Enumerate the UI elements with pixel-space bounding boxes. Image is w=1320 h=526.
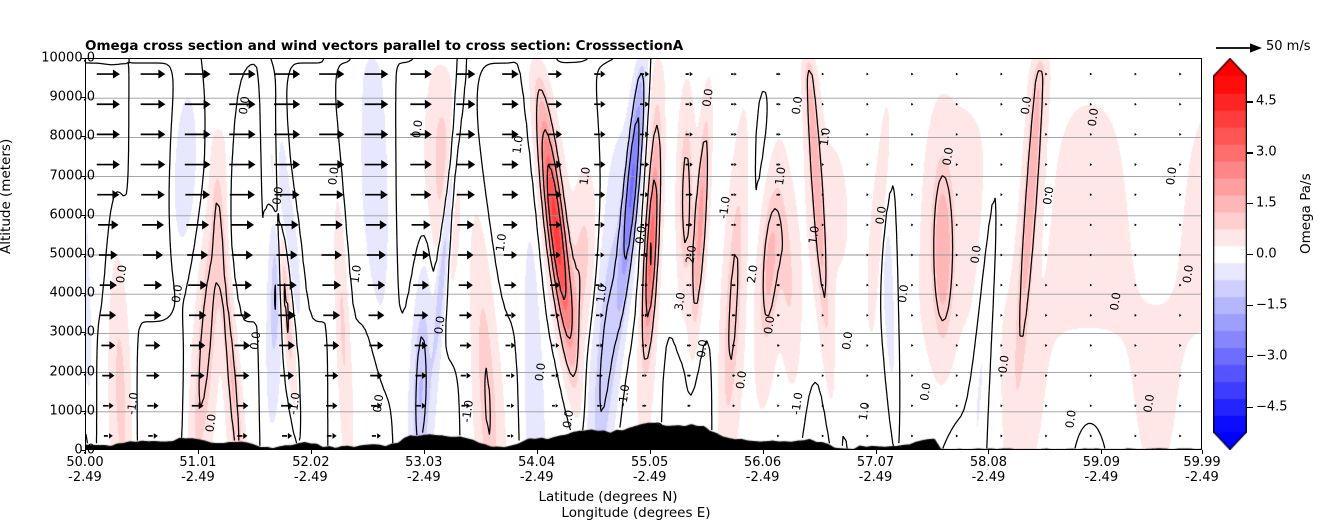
x-tick-longitude: -2.49 bbox=[970, 470, 1007, 485]
contour-label: 0.0 bbox=[733, 370, 749, 390]
contour-label: 2.0 bbox=[744, 264, 760, 284]
svg-text:0.0: 0.0 bbox=[733, 370, 749, 390]
contour-label: 1.0 bbox=[805, 225, 821, 245]
wind-vector bbox=[641, 283, 648, 287]
colorbar-tick-mark bbox=[1247, 407, 1253, 408]
colorbar-tick-mark bbox=[1247, 203, 1253, 204]
wind-vector bbox=[911, 404, 913, 407]
wind-vector bbox=[911, 254, 913, 257]
wind-vector bbox=[459, 311, 472, 319]
wind-vector bbox=[1001, 344, 1003, 347]
svg-text:0.0: 0.0 bbox=[1163, 166, 1179, 186]
wind-vector bbox=[956, 103, 958, 106]
x-tick-longitude: -2.49 bbox=[179, 470, 216, 485]
wind-vector bbox=[1001, 435, 1003, 438]
wind-vector bbox=[731, 72, 737, 75]
wind-vector bbox=[415, 342, 428, 350]
wind-vector bbox=[1179, 314, 1181, 317]
x-tick-longitude: -2.49 bbox=[292, 470, 329, 485]
wind-vector bbox=[1090, 133, 1092, 136]
wind-vector bbox=[230, 190, 255, 199]
wind-vector bbox=[911, 133, 913, 136]
wind-vector bbox=[956, 374, 958, 377]
y-tick-label: 6000.0 bbox=[50, 207, 96, 222]
svg-text:0.0: 0.0 bbox=[247, 331, 263, 351]
colorbar-tick-mark bbox=[1247, 152, 1253, 153]
svg-text:0.0: 0.0 bbox=[873, 205, 889, 225]
svg-text:0.0: 0.0 bbox=[1062, 409, 1078, 429]
wind-vector bbox=[1090, 404, 1092, 407]
wind-vector bbox=[1001, 133, 1003, 136]
contour-label: 0.0 bbox=[917, 382, 933, 402]
wind-vector bbox=[506, 373, 515, 378]
svg-text:0.0: 0.0 bbox=[967, 244, 983, 264]
plot-clip: 0.0-1.00.00.00.00.0-1.00.01.00.00.00.0-1… bbox=[86, 59, 1201, 449]
wind-vector bbox=[777, 223, 781, 226]
x-tick-latitude: 54.04 bbox=[518, 455, 555, 470]
wind-vector bbox=[274, 160, 300, 169]
wind-vector bbox=[1179, 374, 1181, 377]
wind-vector bbox=[1001, 374, 1003, 377]
wind-vector bbox=[457, 190, 475, 199]
wind-vector bbox=[687, 314, 692, 317]
x-tick-mark bbox=[85, 450, 86, 454]
wind-vector bbox=[231, 220, 254, 229]
contour-label: 1.0 bbox=[856, 401, 872, 421]
wind-vector bbox=[1001, 404, 1003, 407]
y-tick-label: 2000.0 bbox=[50, 364, 96, 379]
svg-text:0.0: 0.0 bbox=[699, 88, 715, 108]
svg-text:0.0: 0.0 bbox=[789, 95, 805, 115]
svg-text:0.0: 0.0 bbox=[202, 413, 218, 433]
wind-vector bbox=[1135, 435, 1137, 438]
wind-vector bbox=[1001, 284, 1003, 287]
svg-text:3.0: 3.0 bbox=[671, 291, 687, 311]
wind-vector bbox=[822, 254, 824, 257]
wind-vector bbox=[1090, 254, 1092, 257]
wind-vector bbox=[1045, 133, 1047, 136]
wind-vector bbox=[956, 133, 958, 136]
wind-vector bbox=[1179, 284, 1181, 287]
wind-vector bbox=[504, 281, 516, 288]
svg-text:0.0: 0.0 bbox=[761, 315, 777, 335]
wind-vector bbox=[777, 254, 781, 257]
wind-vector bbox=[279, 341, 295, 350]
wind-vector bbox=[372, 433, 381, 438]
wind-vector bbox=[1090, 435, 1092, 438]
wind-vector bbox=[144, 281, 162, 290]
contour-label: 0.0 bbox=[269, 186, 285, 206]
wind-vector bbox=[640, 71, 649, 76]
svg-text:0.0: 0.0 bbox=[1085, 107, 1101, 127]
contour-label: 0.0 bbox=[1085, 107, 1101, 127]
x-tick-label: 57.07-2.49 bbox=[857, 455, 894, 485]
wind-vector bbox=[822, 374, 824, 377]
x-tick-longitude: -2.49 bbox=[631, 470, 668, 485]
wind-vector bbox=[594, 71, 605, 78]
wind-vector bbox=[414, 311, 428, 320]
y-tick-mark bbox=[81, 254, 85, 255]
title-line-1: Omega cross section and wind vectors par… bbox=[85, 38, 1085, 54]
svg-text:0.0: 0.0 bbox=[1107, 291, 1123, 311]
svg-text:1.0: 1.0 bbox=[817, 127, 833, 147]
wind-vector bbox=[777, 284, 780, 287]
wind-vector bbox=[1135, 223, 1137, 226]
wind-vector bbox=[776, 163, 780, 166]
wind-vector bbox=[323, 311, 340, 320]
wind-vector bbox=[1135, 133, 1137, 136]
wind-vector bbox=[321, 250, 342, 259]
svg-text:0.0: 0.0 bbox=[649, 421, 665, 441]
svg-text:1.0: 1.0 bbox=[348, 264, 364, 284]
wind-vector bbox=[1179, 73, 1181, 76]
wind-vector bbox=[458, 250, 474, 259]
wind-vector bbox=[686, 72, 693, 76]
wind-vector bbox=[640, 102, 649, 107]
wind-vector bbox=[642, 374, 647, 377]
wind-vector bbox=[867, 163, 869, 166]
wind-vector bbox=[1090, 314, 1092, 317]
wind-vector bbox=[731, 193, 736, 196]
wind-vector bbox=[687, 374, 691, 377]
wind-vector bbox=[911, 284, 913, 287]
wind-vector bbox=[822, 314, 824, 317]
wind-vector bbox=[1001, 73, 1003, 76]
wind-vector bbox=[595, 222, 605, 228]
contour-label: 0.0 bbox=[895, 284, 911, 304]
wind-vector bbox=[911, 73, 913, 76]
contour-label: 0.0 bbox=[694, 339, 710, 359]
colorbar-tick-label: 4.5 bbox=[1256, 94, 1277, 109]
wind-vector bbox=[416, 403, 426, 409]
wind-vector bbox=[686, 132, 693, 136]
svg-text:0.0: 0.0 bbox=[169, 284, 185, 304]
wind-vector bbox=[101, 341, 115, 349]
y-tick-mark bbox=[81, 97, 85, 98]
wind-vector bbox=[103, 403, 114, 409]
wind-vector bbox=[1135, 284, 1137, 287]
contour-label: 0.0 bbox=[1141, 393, 1157, 413]
wind-vector bbox=[502, 100, 518, 109]
wind-vector bbox=[911, 103, 913, 106]
wind-vector bbox=[1090, 223, 1092, 226]
wind-vector bbox=[1090, 284, 1092, 287]
x-tick-label: 50.00-2.49 bbox=[66, 455, 103, 485]
wind-vector bbox=[867, 374, 869, 377]
wind-vector bbox=[185, 100, 211, 109]
x-tick-latitude: 59.09 bbox=[1083, 455, 1120, 470]
wind-vector bbox=[867, 254, 869, 257]
wind-vector bbox=[457, 220, 474, 229]
x-tick-mark bbox=[1101, 450, 1102, 454]
x-tick-longitude: -2.49 bbox=[744, 470, 781, 485]
wind-vector bbox=[956, 435, 958, 438]
colorbar-tick-mark bbox=[1247, 305, 1253, 306]
x-tick-mark bbox=[876, 450, 877, 454]
wind-vector bbox=[367, 250, 386, 259]
wind-vector bbox=[1045, 314, 1047, 317]
wind-vector bbox=[460, 342, 471, 349]
wind-vector bbox=[229, 160, 255, 169]
wind-vector bbox=[282, 433, 292, 439]
wind-vector bbox=[956, 254, 958, 257]
wind-vector bbox=[1045, 254, 1047, 257]
svg-text:0.0: 0.0 bbox=[1180, 264, 1196, 284]
wind-vector bbox=[365, 100, 389, 109]
y-tick-label: 5000.0 bbox=[50, 247, 96, 262]
x-tick-label: 59.99-2.49 bbox=[1183, 455, 1220, 485]
svg-text:1.0: 1.0 bbox=[805, 225, 821, 245]
wind-vector bbox=[1045, 344, 1047, 347]
x-tick-latitude: 55.05 bbox=[631, 455, 668, 470]
wind-vector bbox=[1045, 223, 1047, 226]
contour-label: 1.0 bbox=[493, 233, 509, 253]
wind-vector bbox=[733, 404, 736, 407]
wind-vector bbox=[461, 373, 471, 379]
contour-label: 0.0 bbox=[532, 362, 548, 382]
contour-label: 0.0 bbox=[839, 331, 855, 351]
wind-vector bbox=[1090, 344, 1092, 347]
wind-vector bbox=[732, 314, 736, 317]
wind-vector bbox=[822, 163, 824, 166]
x-axis-label-longitude: Longitude (degrees E) bbox=[561, 505, 710, 521]
colorbar-tick-label: 3.0 bbox=[1256, 145, 1277, 160]
x-tick-latitude: 50.00 bbox=[66, 455, 103, 470]
wind-vector bbox=[552, 404, 558, 408]
wind-vector bbox=[1179, 254, 1181, 257]
wind-vector bbox=[777, 374, 779, 377]
wind-vector bbox=[1179, 193, 1181, 196]
wind-vector bbox=[686, 102, 693, 106]
x-tick-label: 58.08-2.49 bbox=[970, 455, 1007, 485]
wind-vector bbox=[822, 435, 824, 438]
contour-label: 0.0 bbox=[409, 119, 425, 139]
quiver-key-label: 50 m/s bbox=[1266, 39, 1311, 54]
svg-text:-1.0: -1.0 bbox=[459, 399, 476, 423]
wind-vector bbox=[911, 374, 913, 377]
wind-vector bbox=[410, 100, 432, 109]
svg-text:0.0: 0.0 bbox=[113, 264, 129, 284]
wind-vector bbox=[911, 223, 913, 226]
colorbar-tick-mark bbox=[1247, 356, 1253, 357]
y-tick-mark bbox=[81, 58, 85, 59]
wind-vector bbox=[731, 223, 736, 226]
svg-text:1.0: 1.0 bbox=[493, 233, 509, 253]
wind-vector bbox=[551, 313, 560, 319]
wind-vector bbox=[731, 133, 737, 136]
wind-vector bbox=[956, 344, 958, 347]
y-tick-label: 1000.0 bbox=[50, 403, 96, 418]
wind-vector bbox=[104, 433, 113, 438]
wind-vector bbox=[502, 160, 518, 169]
wind-vector bbox=[911, 435, 913, 438]
wind-vector bbox=[366, 220, 387, 229]
y-tick-mark bbox=[81, 372, 85, 373]
contour-label: 0.0 bbox=[1163, 166, 1179, 186]
y-tick-mark bbox=[81, 215, 85, 216]
wind-vector bbox=[777, 344, 780, 347]
wind-vector bbox=[867, 344, 869, 347]
wind-vector bbox=[688, 404, 691, 407]
contour-label: 1.0 bbox=[817, 127, 833, 147]
svg-text:0.0: 0.0 bbox=[1141, 393, 1157, 413]
wind-vector bbox=[97, 190, 119, 199]
wind-vector bbox=[1179, 163, 1181, 166]
x-tick-mark bbox=[650, 450, 651, 454]
y-tick-mark bbox=[81, 411, 85, 412]
wind-vector bbox=[1090, 374, 1092, 377]
wind-vector bbox=[776, 133, 780, 136]
wind-vector bbox=[867, 435, 869, 438]
contour-label: 0.0 bbox=[967, 244, 983, 264]
wind-vector bbox=[822, 73, 824, 76]
y-tick-label: 10000.0 bbox=[41, 51, 95, 66]
x-tick-mark bbox=[537, 450, 538, 454]
wind-vector bbox=[1179, 344, 1181, 347]
wind-vector bbox=[142, 220, 164, 229]
x-tick-latitude: 52.02 bbox=[292, 455, 329, 470]
x-tick-mark bbox=[311, 450, 312, 454]
x-tick-label: 56.06-2.49 bbox=[744, 455, 781, 485]
wind-vector bbox=[822, 223, 824, 226]
wind-vector bbox=[956, 404, 958, 407]
colorbar-tick-label: 1.5 bbox=[1256, 196, 1277, 211]
contour-label: 0.0 bbox=[699, 88, 715, 108]
x-tick-label: 59.09-2.49 bbox=[1083, 455, 1120, 485]
wind-vector bbox=[911, 163, 913, 166]
x-tick-label: 52.02-2.49 bbox=[292, 455, 329, 485]
contour-label: -1.0 bbox=[459, 399, 476, 423]
wind-vector bbox=[867, 284, 869, 287]
wind-vector bbox=[365, 69, 389, 78]
x-tick-label: 53.03-2.49 bbox=[405, 455, 442, 485]
wind-vector bbox=[1090, 163, 1092, 166]
wind-vector bbox=[867, 133, 869, 136]
svg-text:0.0: 0.0 bbox=[431, 315, 447, 335]
wind-vector bbox=[1001, 103, 1003, 106]
wind-vector bbox=[147, 402, 158, 409]
svg-text:0.0: 0.0 bbox=[917, 382, 933, 402]
wind-vector bbox=[777, 435, 779, 438]
wind-vector bbox=[731, 163, 737, 166]
svg-text:0.0: 0.0 bbox=[1018, 95, 1034, 115]
wind-vector bbox=[1135, 254, 1137, 257]
wind-vector bbox=[956, 73, 958, 76]
wind-vector bbox=[97, 160, 120, 169]
svg-text:0.0: 0.0 bbox=[1040, 186, 1056, 206]
wind-vector bbox=[368, 311, 384, 320]
x-tick-longitude: -2.49 bbox=[66, 470, 103, 485]
wind-vector bbox=[506, 343, 516, 349]
wind-vector bbox=[642, 404, 646, 407]
wind-vector bbox=[731, 103, 737, 106]
colorbar-tick-label: −3.0 bbox=[1256, 348, 1288, 363]
contour-label: 0.0 bbox=[202, 413, 218, 433]
y-tick-label: 9000.0 bbox=[50, 90, 96, 105]
wind-vector bbox=[274, 69, 300, 78]
x-tick-mark bbox=[763, 450, 764, 454]
contour-label: 0.0 bbox=[247, 331, 263, 351]
wind-vector bbox=[1045, 103, 1047, 106]
svg-text:0.0: 0.0 bbox=[694, 339, 710, 359]
wind-vector bbox=[502, 69, 518, 78]
colorbar-tick-label: −1.5 bbox=[1256, 297, 1288, 312]
wind-vector bbox=[1045, 163, 1047, 166]
wind-vector bbox=[101, 311, 117, 320]
wind-vector bbox=[365, 160, 389, 169]
x-tick-mark bbox=[198, 450, 199, 454]
x-tick-mark bbox=[424, 450, 425, 454]
wind-vector bbox=[365, 190, 388, 199]
contour-label: 0.0 bbox=[632, 225, 648, 245]
y-tick-mark bbox=[81, 293, 85, 294]
wind-vector bbox=[141, 100, 166, 109]
x-tick-longitude: -2.49 bbox=[405, 470, 442, 485]
wind-vector bbox=[1179, 223, 1181, 226]
contour-label: 0.0 bbox=[1107, 291, 1123, 311]
wind-vector bbox=[411, 190, 432, 199]
svg-text:2.0: 2.0 bbox=[744, 264, 760, 284]
wind-vector bbox=[1045, 435, 1047, 438]
wind-vector bbox=[822, 103, 824, 106]
x-tick-mark bbox=[1202, 450, 1203, 454]
wind-vector bbox=[867, 73, 869, 76]
wind-vector bbox=[956, 163, 958, 166]
wind-vector bbox=[503, 220, 518, 229]
wind-vector bbox=[956, 314, 958, 317]
quiver-key-arrow-icon bbox=[1214, 38, 1264, 58]
wind-vector bbox=[141, 160, 166, 169]
contour-label: 1.0 bbox=[577, 166, 593, 186]
contour-label: 0.0 bbox=[560, 409, 576, 429]
wind-vector bbox=[234, 311, 252, 320]
contour-label: 0.0 bbox=[1018, 95, 1034, 115]
quiver-key: 50 m/s bbox=[1214, 38, 1320, 58]
contour-label: 0.0 bbox=[325, 166, 341, 186]
wind-vector bbox=[1045, 404, 1047, 407]
wind-vector bbox=[1001, 314, 1003, 317]
x-tick-latitude: 58.08 bbox=[970, 455, 1007, 470]
wind-vector bbox=[410, 69, 432, 78]
contour-label: 0.0 bbox=[113, 264, 129, 284]
wind-vector bbox=[412, 220, 431, 229]
svg-text:-1.0: -1.0 bbox=[615, 383, 632, 407]
wind-vector bbox=[141, 69, 166, 78]
wind-vector bbox=[911, 193, 913, 196]
contour-label: 1.0 bbox=[348, 264, 364, 284]
svg-text:1.0: 1.0 bbox=[772, 166, 788, 186]
wind-vector bbox=[507, 434, 513, 438]
wind-vector bbox=[368, 281, 386, 290]
contour-label: 0.0 bbox=[761, 315, 777, 335]
contour-label: 0.0 bbox=[649, 421, 665, 441]
y-tick-mark bbox=[81, 136, 85, 137]
wind-vector bbox=[777, 404, 779, 407]
wind-vector bbox=[1001, 193, 1003, 196]
contour-label: 0.0 bbox=[1062, 409, 1078, 429]
colorbar-tick-mark bbox=[1247, 254, 1253, 255]
svg-text:0.0: 0.0 bbox=[269, 186, 285, 206]
wind-vector bbox=[185, 69, 211, 78]
contour-label: 0.0 bbox=[940, 146, 956, 166]
wind-vector bbox=[956, 284, 958, 287]
contour-label: 0.0 bbox=[1040, 186, 1056, 206]
x-tick-label: 54.04-2.49 bbox=[518, 455, 555, 485]
y-tick-label: 7000.0 bbox=[50, 168, 96, 183]
wind-vector bbox=[141, 190, 165, 199]
wind-vector bbox=[1045, 73, 1047, 76]
wind-vector bbox=[1179, 103, 1181, 106]
